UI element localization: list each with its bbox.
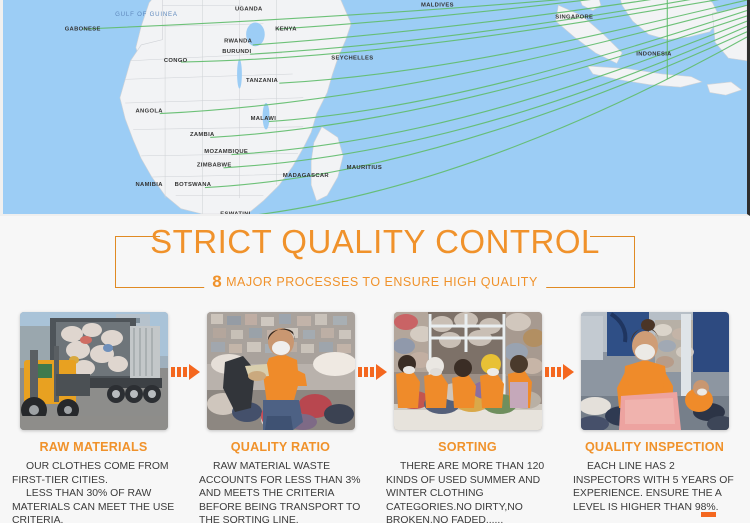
title-subline: 8 MAJOR PROCESSES TO ENSURE HIGH QUALITY	[204, 272, 546, 292]
photo-raw-materials[interactable]	[20, 312, 168, 430]
process-step-quality-ratio[interactable]: QUALITY RATIO RAW MATERIAL WASTE ACCOUNT…	[187, 308, 374, 523]
process-count: 8	[212, 272, 221, 291]
map-label-gulf-of-guinea: GULF OF GUINEA	[115, 11, 178, 18]
quality-control-infographic: GULF OF GUINEAGABONESEUGANDAKENYARWANDAB…	[0, 0, 750, 523]
photo-quality-inspection[interactable]	[581, 312, 729, 430]
step-paragraph-1a: OUR CLOTHES COME FROM FIRST-TIER CITIES.	[12, 460, 175, 487]
arrow-icon-1	[171, 364, 201, 380]
map-label-maldives: MALDIVES	[421, 3, 454, 9]
map-label-uganda: UGANDA	[235, 7, 263, 13]
map-label-madagascar: MADAGASCAR	[283, 173, 330, 179]
map-label-gabonese: GABONESE	[65, 26, 101, 32]
map-label-congo: CONGO	[164, 58, 188, 64]
page-title: STRICT QUALITY CONTROL	[115, 222, 635, 262]
map-label-angola: ANGOLA	[136, 108, 164, 114]
map-svg: GULF OF GUINEAGABONESEUGANDAKENYARWANDAB…	[3, 0, 747, 214]
map-label-zimbabwe: ZIMBABWE	[197, 162, 232, 168]
map-label-singapore: SINGAPORE	[555, 15, 593, 21]
world-shipping-map-banner: GULF OF GUINEAGABONESEUGANDAKENYARWANDAB…	[0, 0, 750, 216]
map-label-namibia: NAMIBIA	[136, 182, 164, 188]
map-label-rwanda: RWANDA	[224, 38, 253, 44]
map-label-tanzania: TANZANIA	[246, 78, 278, 84]
map-label-botswana: BOTSWANA	[175, 182, 212, 188]
arrow-icon-3	[545, 364, 575, 380]
map-label-seychelles: SEYCHELLES	[331, 55, 373, 61]
photo-quality-ratio[interactable]	[207, 312, 355, 430]
process-steps-row: RAW MATERIALS OUR CLOTHES COME FROM FIRS…	[0, 308, 750, 523]
step-body-1: OUR CLOTHES COME FROM FIRST-TIER CITIES.…	[4, 460, 183, 523]
lake-tanganyika	[237, 59, 242, 88]
orange-end-marker	[701, 512, 716, 517]
map-label-eswatini: ESWATINI	[220, 211, 250, 214]
process-step-sorting[interactable]: SORTING THERE ARE MORE THAN 120 KINDS OF…	[374, 308, 561, 523]
process-step-quality-inspection[interactable]: QUALITY INSPECTION EACH LINE HAS 2 INSPE…	[561, 308, 748, 514]
section-title-block: STRICT QUALITY CONTROL 8 MAJOR PROCESSES…	[0, 222, 750, 302]
step-title-4: QUALITY INSPECTION	[565, 440, 744, 454]
map-label-burundi: BURUNDI	[222, 49, 251, 55]
step-paragraph-3a: THERE ARE MORE THAN 120 KINDS OF USED SU…	[386, 460, 549, 523]
step-body-4: EACH LINE HAS 2 INSPECTORS WITH 5 YEARS …	[565, 460, 744, 514]
step-title-1: RAW MATERIALS	[4, 440, 183, 454]
subtitle-text: MAJOR PROCESSES TO ENSURE HIGH QUALITY	[226, 275, 538, 289]
step-title-3: SORTING	[378, 440, 557, 454]
step-body-3: THERE ARE MORE THAN 120 KINDS OF USED SU…	[378, 460, 557, 523]
step-paragraph-4a: EACH LINE HAS 2 INSPECTORS WITH 5 YEARS …	[573, 460, 736, 514]
map-label-kenya: KENYA	[275, 26, 297, 32]
map-label-zambia: ZAMBIA	[190, 132, 215, 138]
step-body-2: RAW MATERIAL WASTE ACCOUNTS FOR LESS THA…	[191, 460, 370, 523]
arrow-icon-2	[358, 364, 388, 380]
photo-sorting[interactable]	[394, 312, 542, 430]
map-label-mozambique: MOZAMBIQUE	[204, 149, 248, 155]
step-paragraph-1b: LESS THAN 30% OF RAW MATERIALS CAN MEET …	[12, 487, 175, 523]
map-label-malawi: MALAWI	[251, 116, 277, 122]
ocean-background	[3, 0, 747, 214]
map-label-mauritius: MAURITIUS	[347, 165, 382, 171]
process-step-raw-materials[interactable]: RAW MATERIALS OUR CLOTHES COME FROM FIRS…	[0, 308, 187, 523]
map-label-indonesia: INDONESIA	[636, 51, 672, 57]
step-title-2: QUALITY RATIO	[191, 440, 370, 454]
step-paragraph-2a: RAW MATERIAL WASTE ACCOUNTS FOR LESS THA…	[199, 460, 362, 523]
